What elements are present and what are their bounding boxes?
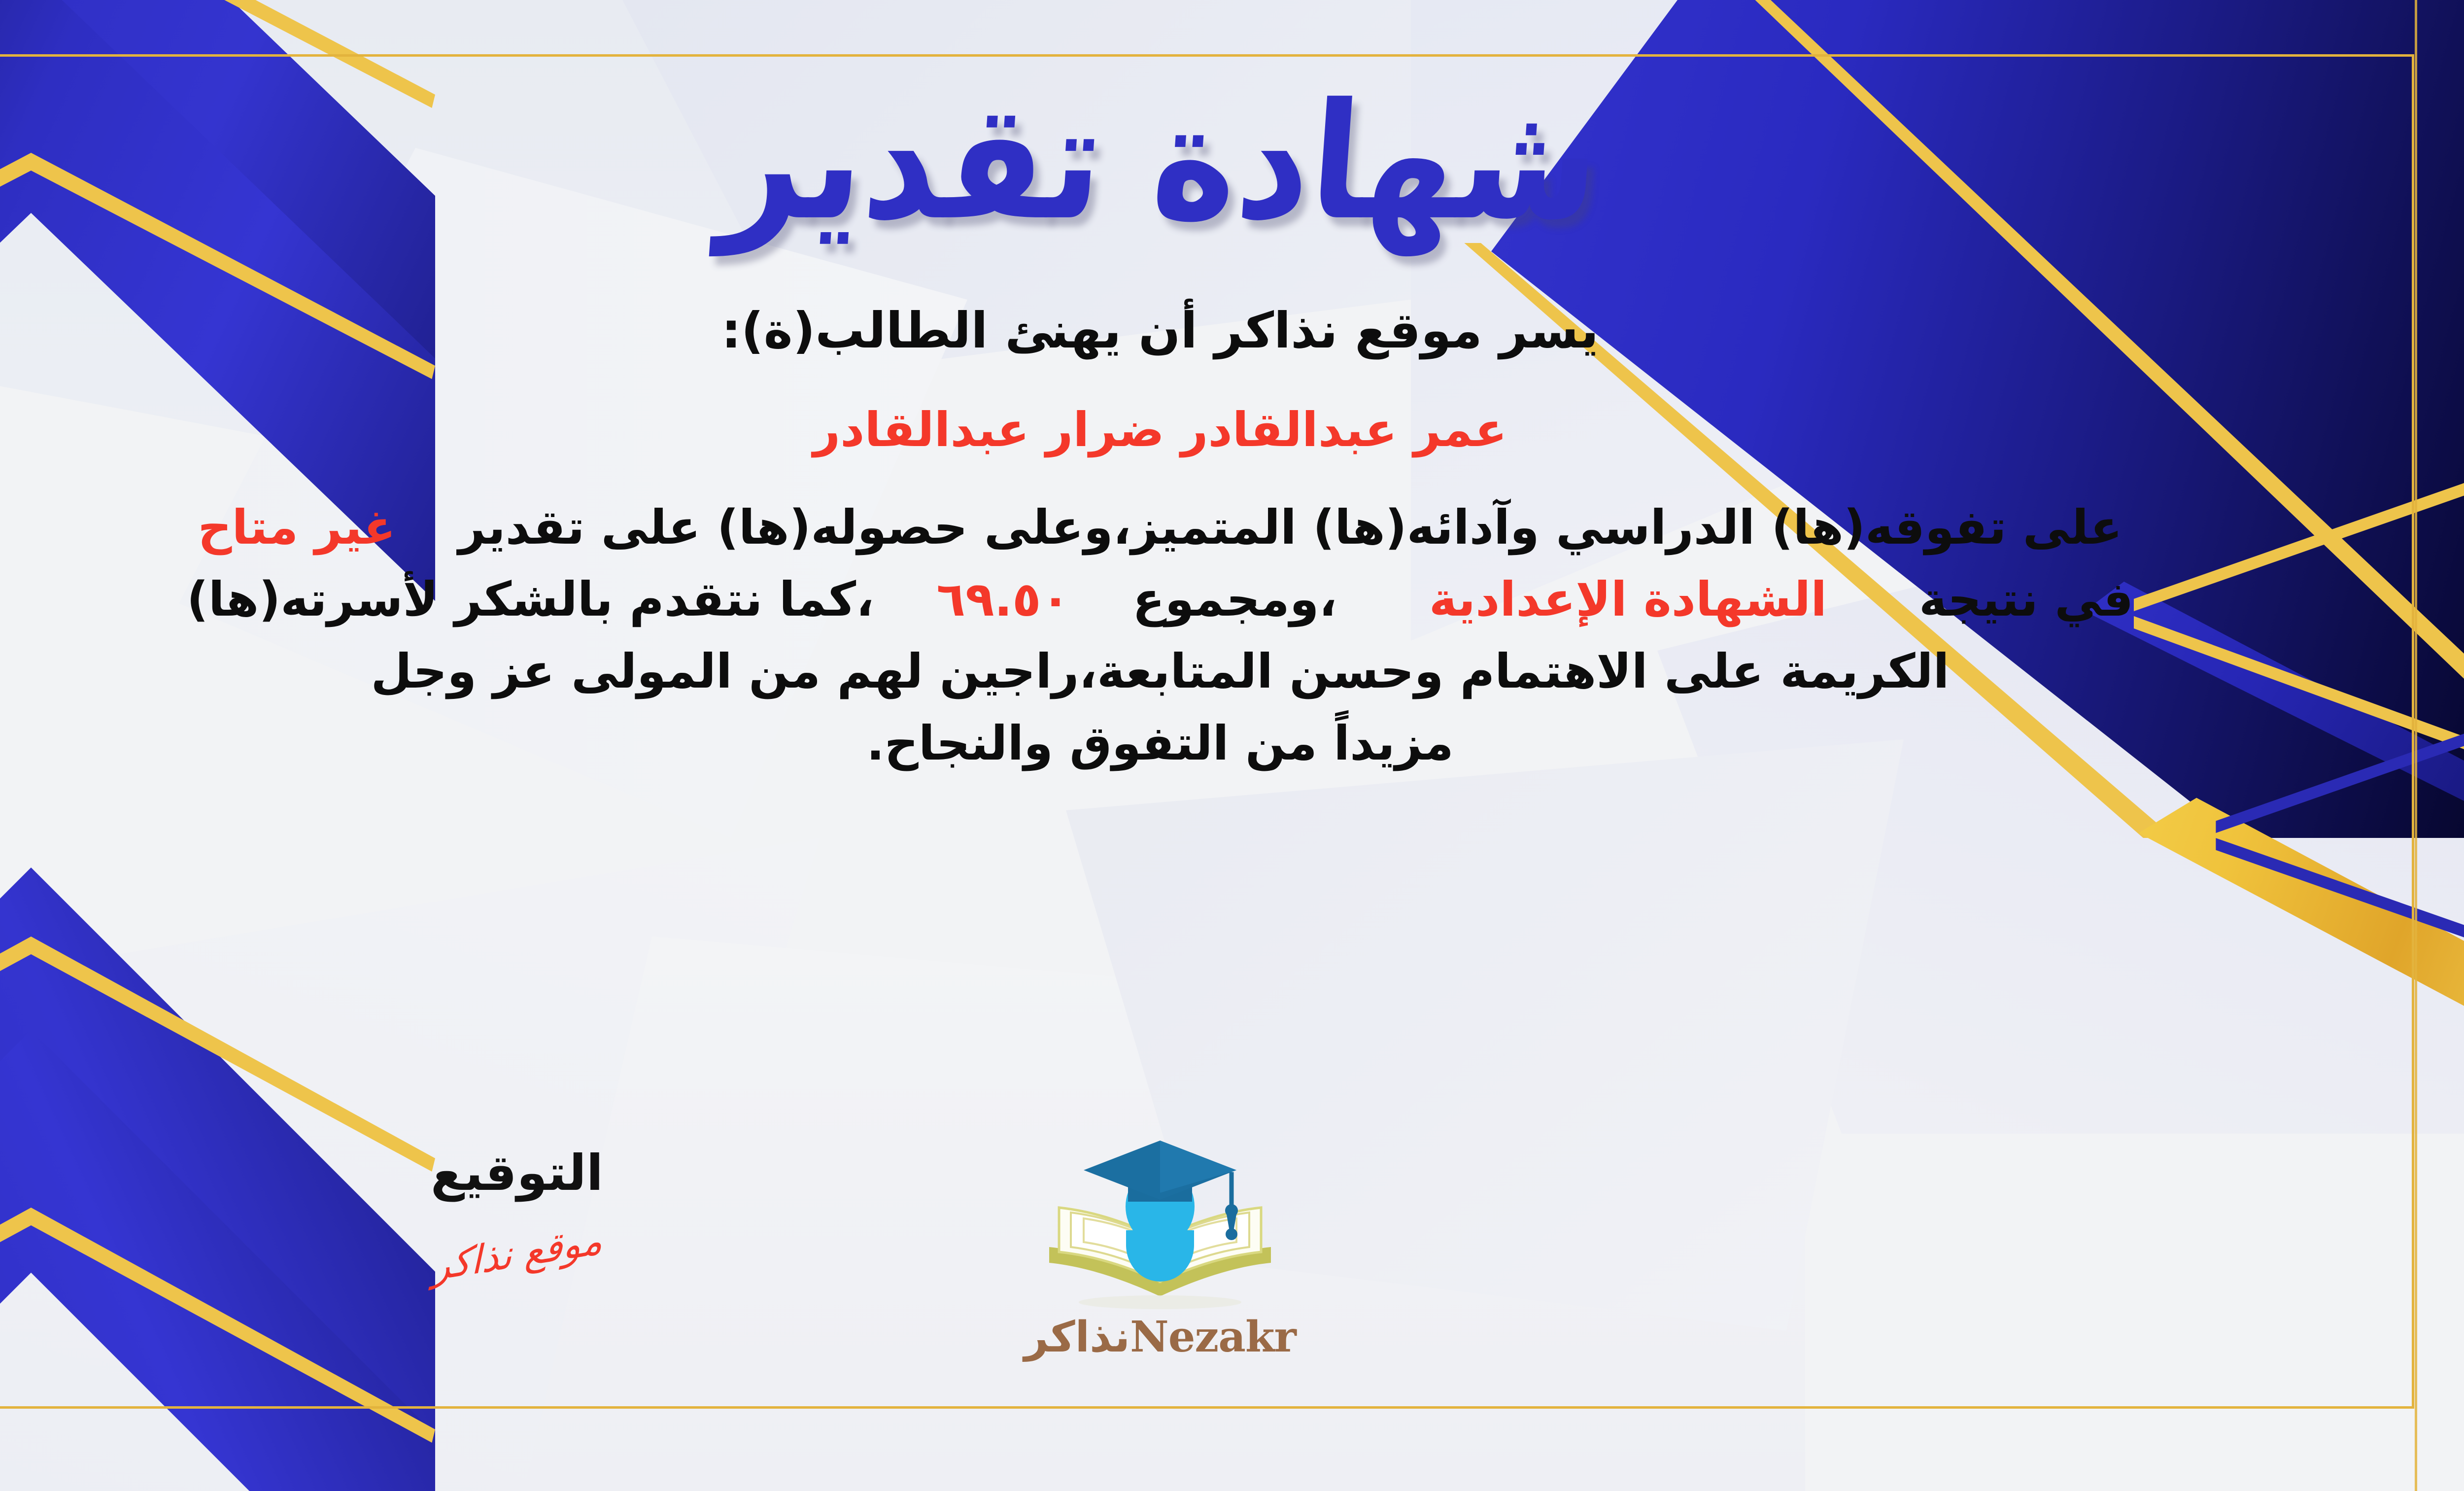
total-label-text: ،ومجموع bbox=[1132, 572, 1337, 627]
gold-vertical-accent bbox=[2415, 0, 2417, 1491]
citation-line-2: في نتيجة الشهادة الإعدادية ،ومجموع ٦٩.٥٠… bbox=[0, 564, 2414, 636]
certificate-title: شهادة تقدير bbox=[716, 83, 1605, 243]
logo-name-latin: Nezakr bbox=[1130, 1312, 1296, 1362]
citation-text-before-grade: على تفوقه(ها) الدراسي وآدائه(ها) المتميز… bbox=[458, 500, 2122, 555]
exam-prefix-text: في نتيجة bbox=[1919, 572, 2133, 627]
signature-label: التوقيع bbox=[364, 1148, 670, 1198]
logo-artwork bbox=[1029, 1134, 1291, 1321]
signature-block: التوقيع موقع نذاكر bbox=[364, 1148, 670, 1273]
signature-mark: موقع نذاكر bbox=[431, 1221, 602, 1287]
citation-line-3: الكريمة على الاهتمام وحسن المتابعة،راجين… bbox=[0, 636, 2414, 708]
logo-name-arabic: نذاكر bbox=[1024, 1313, 1130, 1362]
grade-value: غير متاح bbox=[198, 500, 396, 555]
student-name: عمر عبدالقادر ضرار عبدالقادر bbox=[0, 396, 2414, 463]
certificate-document: شهادة تقدير يسر موقع نذاكر أن يهنئ الطال… bbox=[0, 0, 2464, 1491]
total-score-value: ٦٩.٥٠ bbox=[936, 572, 1070, 627]
thanks-text: ،كما نتقدم بالشكر لأسرته(ها) bbox=[187, 572, 874, 627]
congratulations-line: يسر موقع نذاكر أن يهنئ الطالب(ة): bbox=[0, 296, 2414, 366]
exam-name: الشهادة الإعدادية bbox=[1429, 572, 1827, 627]
citation-line-1: على تفوقه(ها) الدراسي وآدائه(ها) المتميز… bbox=[0, 492, 2414, 564]
citation-paragraph: على تفوقه(ها) الدراسي وآدائه(ها) المتميز… bbox=[0, 492, 2414, 780]
citation-line-4: مزيداً من التفوق والنجاح. bbox=[0, 708, 2414, 780]
nezakr-logo: Nezakrنذاكر bbox=[938, 1134, 1382, 1410]
certificate-title-area: شهادة تقدير bbox=[0, 64, 2414, 261]
certificate-body: يسر موقع نذاكر أن يهنئ الطالب(ة): عمر عب… bbox=[0, 261, 2414, 780]
logo-wordmark: Nezakrنذاكر bbox=[938, 1316, 1382, 1358]
certificate-footer: التوقيع موقع نذاكر bbox=[0, 1134, 2414, 1410]
